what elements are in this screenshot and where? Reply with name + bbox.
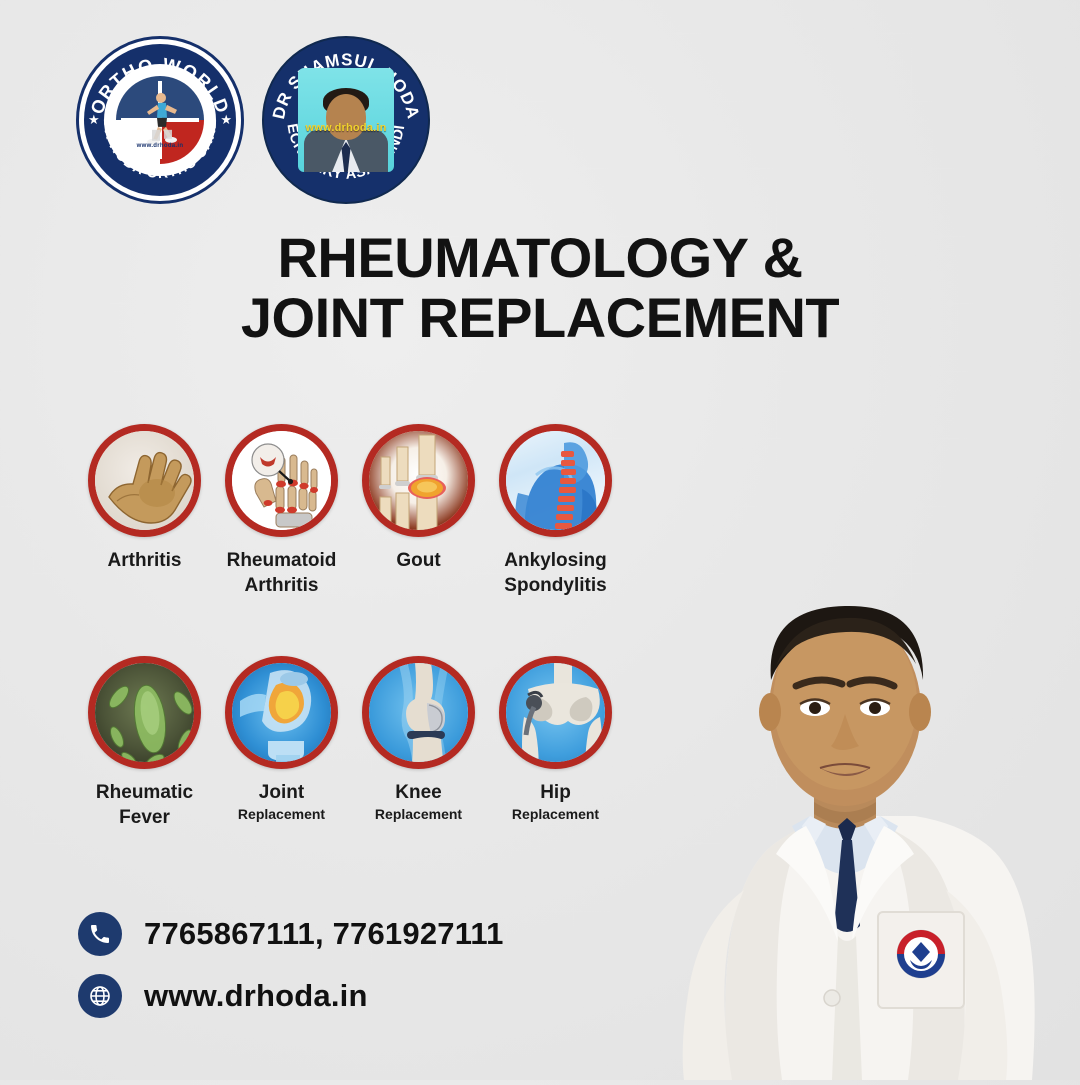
- service-item-ankylosing-spondylitis[interactable]: Ankylosing Spondylitis: [487, 424, 624, 599]
- dr-shamsul-hoda-badge: DR SHAMSUL HODA SECRETARY ASAMI INDIA ww…: [262, 36, 430, 204]
- page-title: RHEUMATOLOGY & JOINT REPLACEMENT: [0, 228, 1080, 349]
- service-label: Arthritis: [108, 550, 182, 571]
- phone-icon: [78, 912, 122, 956]
- globe-icon: [78, 974, 122, 1018]
- service-item-knee-replacement[interactable]: Knee Replacement: [350, 656, 487, 831]
- coat-badge: [896, 929, 946, 979]
- service-item-arthritis[interactable]: Arthritis: [76, 424, 213, 599]
- service-caption: Joint Replacement: [238, 781, 325, 824]
- knee-replacement-icon-frame: [362, 656, 475, 769]
- doctor-portrait: [610, 520, 1080, 1080]
- star-icon-right: ★: [220, 112, 232, 128]
- runner-icon: [133, 90, 187, 148]
- phone-number-label: 7765867111, 7761927111: [144, 916, 504, 952]
- hip-replacement-icon-frame: [499, 656, 612, 769]
- arthritis-icon-frame: [88, 424, 201, 537]
- service-sublabel: Arthritis: [227, 574, 337, 598]
- gout-icon-frame: [362, 424, 475, 537]
- service-caption: Rheumatoid Arthritis: [227, 549, 337, 599]
- services-row-2: Rheumatic Fever: [76, 656, 646, 831]
- badge-url-label: www.drhoda.in: [264, 122, 428, 134]
- logo-row: ORTHO WORLD DR HODA ORTHO CARE ★ ★: [76, 36, 430, 204]
- star-icon-left: ★: [88, 112, 100, 128]
- website-label: www.drhoda.in: [144, 978, 368, 1014]
- services-grid: Arthritis: [76, 424, 646, 830]
- badge-portrait: [298, 68, 394, 172]
- gout-joint-icon: [369, 431, 468, 530]
- service-label: Rheumatic: [96, 782, 193, 803]
- service-caption: Arthritis: [108, 549, 182, 573]
- rheumatoid-hand-bones-icon: [232, 431, 331, 530]
- spine-icon: [506, 431, 605, 530]
- service-label: Ankylosing: [504, 550, 606, 571]
- service-sublabel: Replacement: [238, 806, 325, 824]
- service-caption: Hip Replacement: [512, 781, 599, 824]
- service-sublabel: Replacement: [512, 806, 599, 824]
- poster-canvas: ORTHO WORLD DR HODA ORTHO CARE ★ ★: [0, 0, 1080, 1080]
- service-item-joint-replacement[interactable]: Joint Replacement: [213, 656, 350, 831]
- service-item-rheumatoid-arthritis[interactable]: Rheumatoid Arthritis: [213, 424, 350, 599]
- service-label: Rheumatoid: [227, 550, 337, 571]
- service-caption: Gout: [396, 549, 440, 573]
- title-line-2: JOINT REPLACEMENT: [0, 288, 1080, 348]
- service-label: Joint: [259, 782, 304, 803]
- service-sublabel: Fever: [96, 806, 193, 830]
- services-row-1: Arthritis: [76, 424, 646, 599]
- joint-replacement-icon-frame: [225, 656, 338, 769]
- service-caption: Knee Replacement: [375, 781, 462, 824]
- ortho-world-logo: ORTHO WORLD DR HODA ORTHO CARE ★ ★: [76, 36, 244, 204]
- contact-website-row[interactable]: www.drhoda.in: [78, 974, 504, 1018]
- knee-implant-icon: [369, 663, 468, 762]
- service-sublabel: Replacement: [375, 806, 462, 824]
- logo-micro-url: www.drhoda.in: [137, 143, 184, 149]
- hip-implant-icon: [506, 663, 605, 762]
- service-label: Knee: [395, 782, 441, 803]
- ankylosing-spondylitis-icon-frame: [499, 424, 612, 537]
- service-item-hip-replacement[interactable]: Hip Replacement: [487, 656, 624, 831]
- joint-implant-icon: [232, 663, 331, 762]
- service-label: Hip: [540, 782, 571, 803]
- service-caption: Rheumatic Fever: [96, 781, 193, 831]
- service-caption: Ankylosing Spondylitis: [504, 549, 606, 599]
- service-sublabel: Spondylitis: [504, 574, 606, 598]
- logo-shield-emblem: [116, 76, 204, 164]
- bacteria-icon: [95, 663, 194, 762]
- service-label: Gout: [396, 550, 440, 571]
- service-item-rheumatic-fever[interactable]: Rheumatic Fever: [76, 656, 213, 831]
- contact-block: 7765867111, 7761927111 www.drhoda.in: [78, 912, 504, 1036]
- rheumatoid-arthritis-icon-frame: [225, 424, 338, 537]
- arthritic-hand-photo: [95, 431, 194, 530]
- service-item-gout[interactable]: Gout: [350, 424, 487, 599]
- rheumatic-fever-icon-frame: [88, 656, 201, 769]
- contact-phone-row[interactable]: 7765867111, 7761927111: [78, 912, 504, 956]
- title-line-1: RHEUMATOLOGY &: [277, 226, 802, 289]
